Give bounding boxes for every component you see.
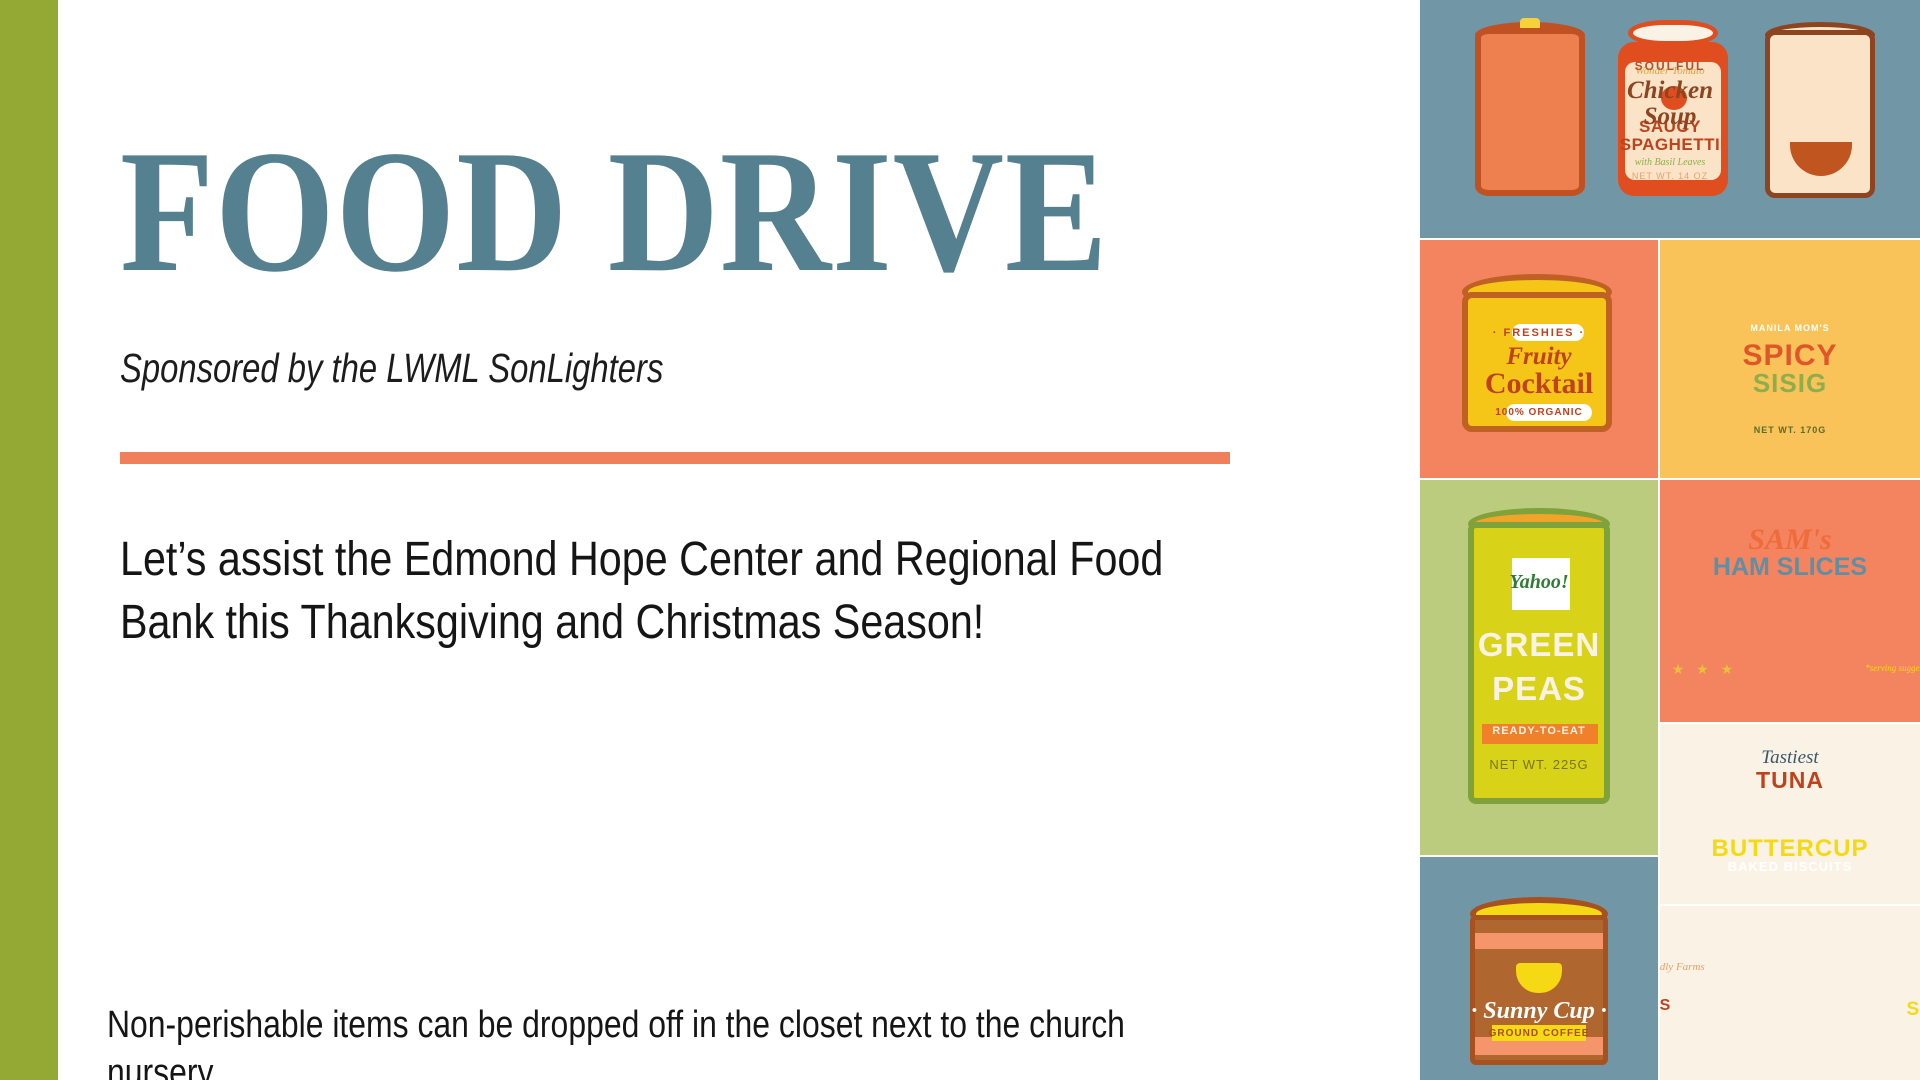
collage-panel-ground-coffee: · Sunny Cup · GROUND COFFEE	[1420, 857, 1658, 1080]
food-can-collage: Silly CHILI BEANS Wonder Tomato SAUCY SP…	[1420, 0, 1920, 1080]
peas-product-line1: GREEN	[1420, 628, 1658, 663]
text-column: FOOD DRIVE Sponsored by the LWML SonLigh…	[115, 0, 1405, 1080]
subtitle: Sponsored by the LWML SonLighters	[120, 345, 663, 392]
peas-net-weight: NET WT. 225G	[1420, 758, 1658, 772]
coffee-stripe-top	[1475, 933, 1603, 949]
vienna-brand: Pepper's	[1827, 952, 1920, 975]
soup-product-line1: Chicken	[1420, 78, 1920, 104]
vienna-product-line1: VIENNA	[1834, 984, 1920, 1000]
sisig-brand: MANILA MOM'S	[1660, 324, 1920, 333]
vienna-product-line2: SAUSAGE	[1827, 1000, 1920, 1020]
left-accent-bar	[0, 0, 58, 1080]
tuna-brand: Tastiest	[1660, 748, 1920, 768]
fruit-product-line2: Cocktail	[1420, 368, 1658, 400]
collage-panel-top-shelf: Silly CHILI BEANS Wonder Tomato SAUCY SP…	[1420, 0, 1920, 238]
collage-panel-ham-slices: #1 SAM's HAM SLICES ALL MEAT ★ ★ ★ ★ ★ *…	[1660, 480, 1920, 722]
coffee-brand: · Sunny Cup ·	[1420, 999, 1658, 1024]
peas-brand: Yahoo!	[1420, 572, 1658, 593]
collage-panel-pork-vienna: Friendly Farms PORK N' BEANS Pepper's VI…	[1660, 906, 1920, 1080]
collage-panel-tuna-biscuits: Tastiest TUNA BUTTERCUP BAKED BISCUITS	[1660, 724, 1920, 904]
slide-canvas: FOOD DRIVE Sponsored by the LWML SonLigh…	[0, 0, 1920, 1080]
soup-product-line2: Soup	[1420, 104, 1920, 130]
sisig-net-weight: NET WT. 170G	[1660, 426, 1920, 435]
pork-brand: Friendly Farms	[1660, 962, 1800, 974]
tuna-product-line1: TUNA	[1660, 768, 1920, 792]
collage-panel-green-peas: Yahoo! GREEN PEAS READY-TO-EAT NET WT. 2…	[1420, 480, 1658, 855]
divider-rule	[120, 452, 1230, 464]
coffee-product-line1: GROUND COFFEE	[1420, 1029, 1658, 1040]
collage-panel-spicy-sisig: MANILA MOM'S SPICY SISIG NET WT. 170G	[1660, 240, 1920, 478]
peas-badge: READY-TO-EAT	[1420, 726, 1658, 738]
peas-product-line2: PEAS	[1420, 672, 1658, 707]
ham-disclaimer: *serving suggestion only	[1780, 664, 1920, 673]
pork-product-line1: PORK N' BEANS	[1660, 998, 1737, 1015]
body-paragraph: Let’s assist the Edmond Hope Center and …	[120, 528, 1178, 655]
collage-panel-fruit-cocktail: · FRESHIES · Fruity Cocktail 100% ORGANI…	[1420, 240, 1658, 478]
sisig-product-line2: SISIG	[1660, 370, 1920, 397]
biscuit-brand: BUTTERCUP	[1660, 836, 1920, 861]
ham-product-line1: HAM SLICES	[1660, 554, 1920, 580]
fruit-badge: 100% ORGANIC	[1420, 408, 1658, 419]
biscuit-product-line1: BAKED BISCUITS	[1660, 860, 1920, 874]
fruit-brand: · FRESHIES ·	[1420, 328, 1658, 340]
sisig-product-line1: SPICY	[1660, 340, 1920, 372]
footer-note: Non-perishable items can be dropped off …	[107, 1002, 1216, 1080]
ham-badge: ALL MEAT	[1830, 532, 1920, 541]
page-title: FOOD DRIVE	[120, 128, 1108, 294]
spaghetti-jar-lid	[1628, 20, 1718, 46]
soup-brand: SOULFUL	[1420, 60, 1920, 73]
